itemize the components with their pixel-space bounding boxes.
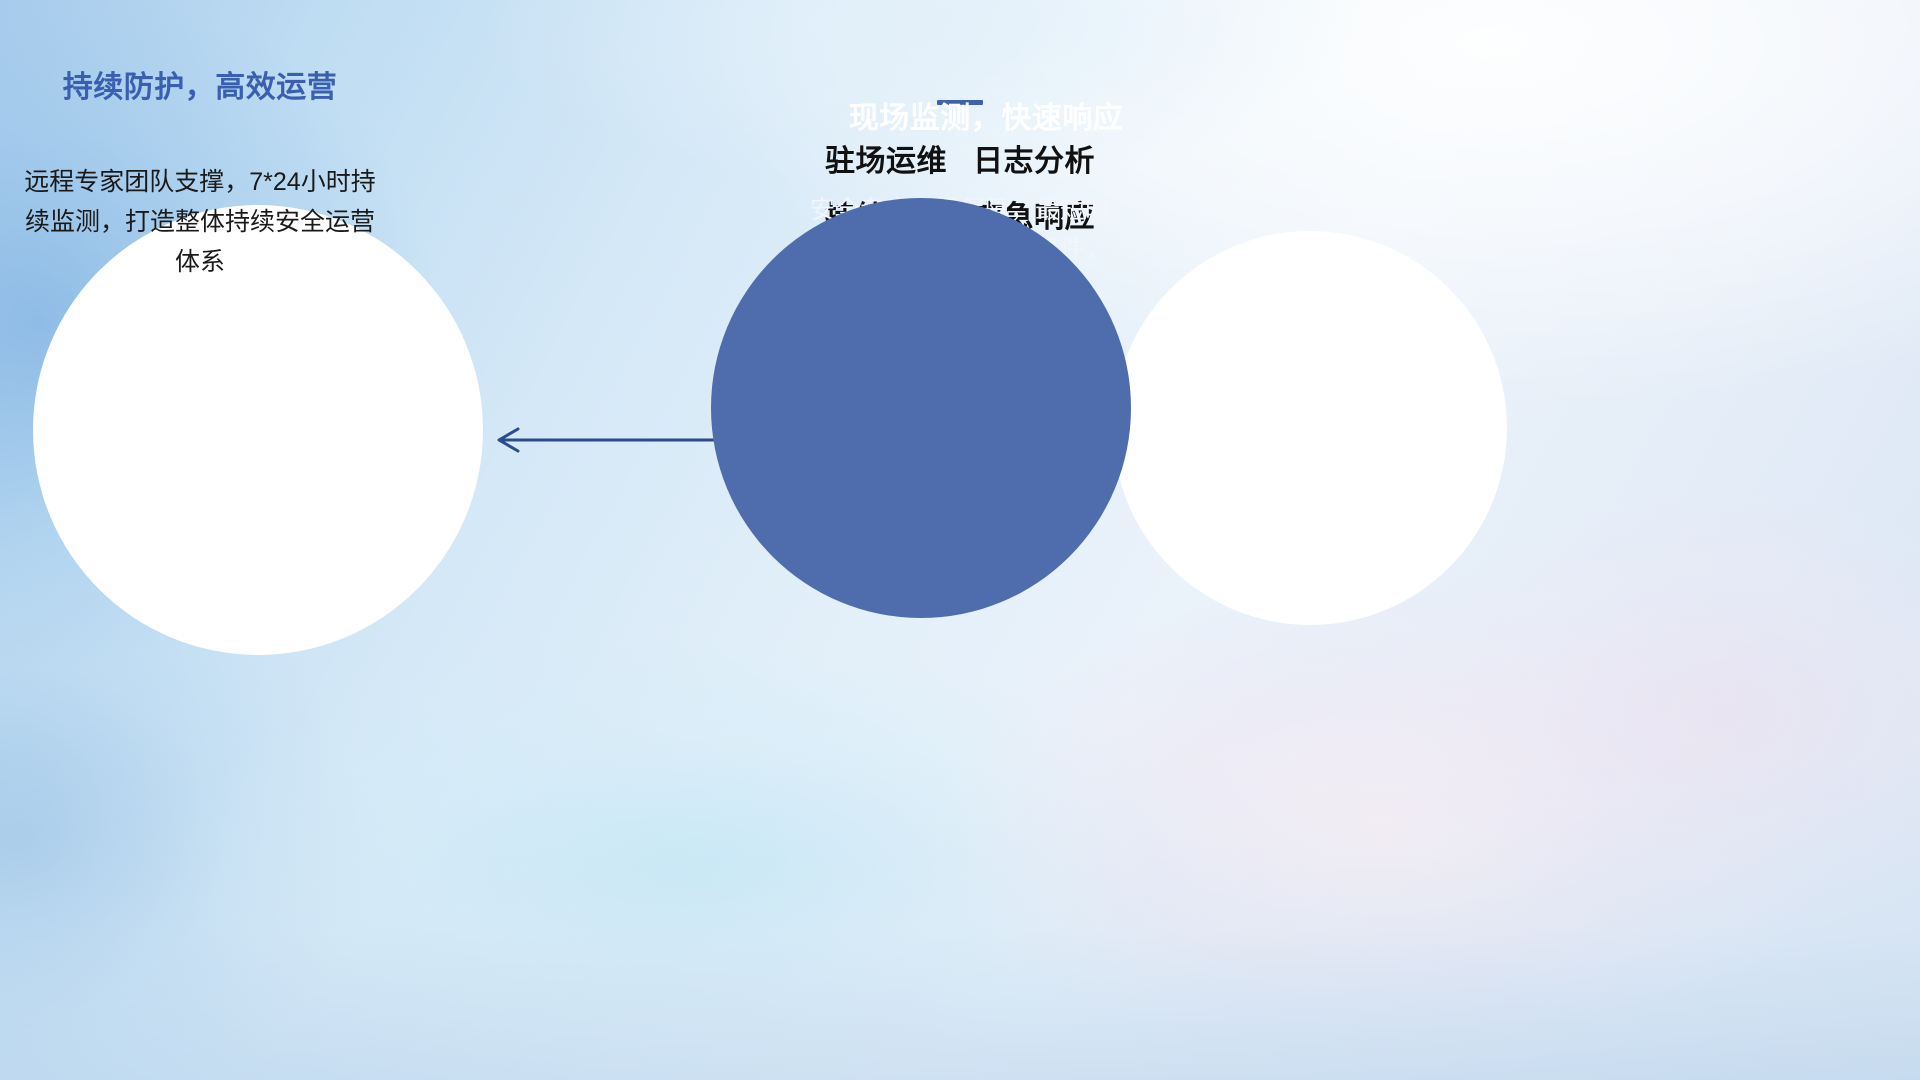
right-circle-title: 持续防护，高效运营 — [63, 62, 338, 106]
connector-arrow-icon — [480, 418, 720, 462]
right-service-circle — [1113, 231, 1507, 625]
right-circle-body: 远程专家团队支撑，7*24小时持续监测，打造整体持续安全运营体系 — [15, 162, 385, 282]
right-circle-content: 持续防护，高效运营 远程专家团队支撑，7*24小时持续监测，打造整体持续安全运营… — [0, 0, 410, 1080]
middle-circle-title: 现场监测，快速响应 — [849, 93, 1124, 137]
middle-service-circle — [711, 198, 1131, 618]
slide-canvas: 驻场运维日志分析 持续加固应急响应 意识培训 现场监测，快速响应 安全专家现场保… — [0, 0, 1920, 1080]
